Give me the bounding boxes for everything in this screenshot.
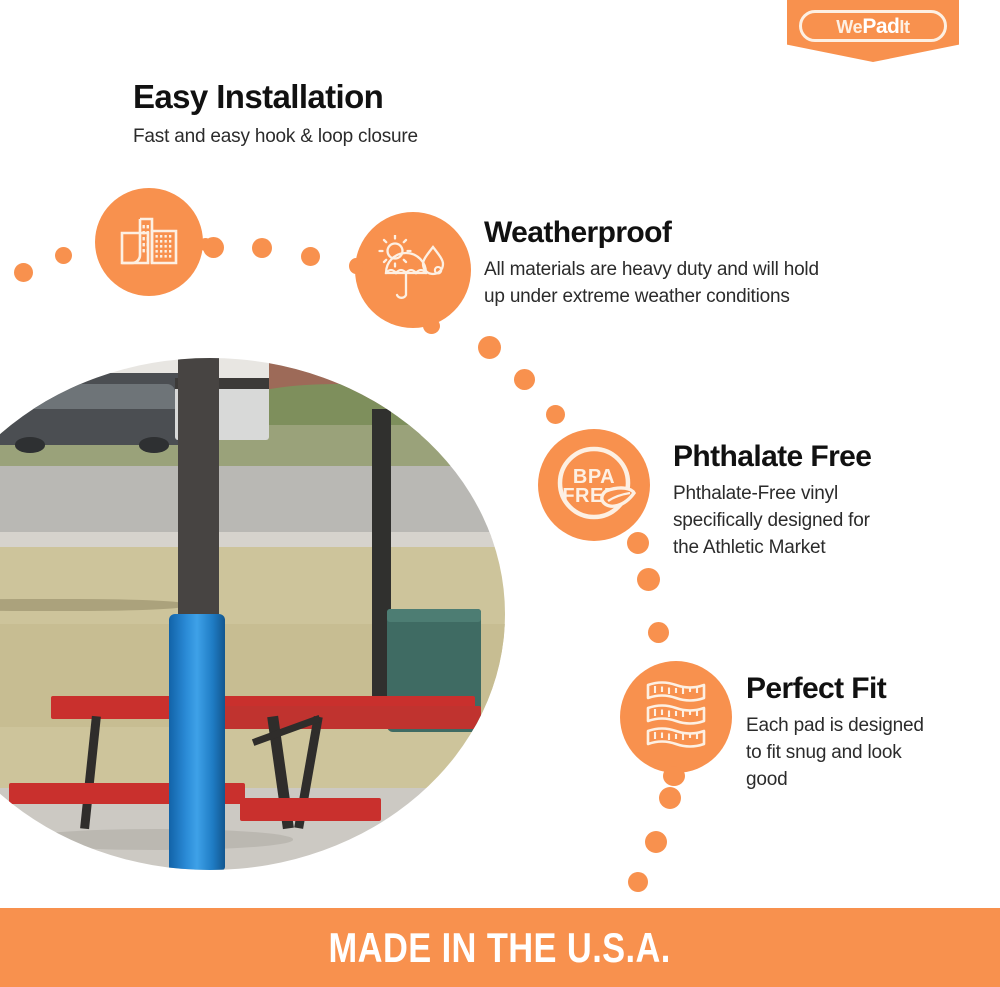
product-photo — [0, 358, 505, 870]
feature-block-perfect-fit: Perfect Fit Each pad is designedto fit s… — [746, 670, 996, 793]
trail-dot — [203, 237, 224, 258]
feature-block-weatherproof: Weatherproof All materials are heavy dut… — [484, 214, 914, 310]
badge-nub-bpa — [627, 532, 649, 554]
made-in-usa-text: MADE IN THE U.S.A. — [329, 924, 671, 972]
phthalate-desc-line-1: Phthalate-Free vinyl — [673, 483, 838, 504]
trail-dot — [301, 247, 320, 266]
measuring-tape-icon — [620, 661, 732, 773]
perfect-fit-desc-line-2: to fit snug and look — [746, 742, 902, 763]
trail-dot — [252, 238, 272, 258]
phthalate-desc-line-2: specifically designed for — [673, 510, 870, 531]
feature-description-perfect-fit: Each pad is designedto fit snug and look… — [746, 712, 996, 793]
feature-description-easy-installation: Fast and easy hook & loop closure — [133, 124, 553, 150]
trail-dot — [637, 568, 660, 591]
infographic-page: WePadIt Easy Installation Fast and easy … — [0, 0, 1000, 987]
logo-text-pad: Pad — [862, 16, 899, 37]
trail-dot — [55, 247, 72, 264]
building-hook-loop-icon — [95, 188, 203, 296]
logo-text-it: It — [899, 18, 909, 36]
trail-dot — [645, 831, 667, 853]
brand-logo-banner: WePadIt — [787, 0, 959, 62]
feature-title-easy-installation: Easy Installation — [133, 76, 553, 118]
trail-dot — [478, 336, 501, 359]
trail-dot — [514, 369, 535, 390]
feature-description-weatherproof: All materials are heavy duty and will ho… — [484, 256, 914, 310]
feature-block-easy-installation: Easy Installation Fast and easy hook & l… — [133, 76, 553, 150]
trail-dot — [546, 405, 565, 424]
perfect-fit-desc-line-3: good — [746, 769, 787, 790]
feature-description-phthalate-free: Phthalate-Free vinylspecifically designe… — [673, 480, 973, 561]
trail-dot — [14, 263, 33, 282]
product-photo-scene — [0, 358, 505, 870]
feature-title-phthalate-free: Phthalate Free — [673, 438, 973, 476]
feature-title-perfect-fit: Perfect Fit — [746, 670, 996, 708]
made-in-usa-banner: MADE IN THE U.S.A. — [0, 908, 1000, 987]
logo-wordmark: WePadIt — [836, 16, 910, 37]
bpa-free-leaf-icon: BPA FREE — [538, 429, 650, 541]
sun-umbrella-raindrop-icon — [355, 212, 471, 328]
weatherproof-desc-line-2: up under extreme weather conditions — [484, 286, 790, 307]
trail-dot — [648, 622, 669, 643]
phthalate-desc-line-3: the Athletic Market — [673, 537, 826, 558]
logo-outline-box: WePadIt — [799, 10, 947, 42]
feature-block-phthalate-free: Phthalate Free Phthalate-Free vinylspeci… — [673, 438, 973, 561]
badge-nub-fit — [663, 766, 685, 786]
logo-text-we: We — [836, 18, 862, 36]
perfect-fit-desc-line-1: Each pad is designed — [746, 715, 924, 736]
badge-nub-weather-bottom — [423, 318, 440, 334]
weatherproof-desc-line-1: All materials are heavy duty and will ho… — [484, 259, 819, 280]
trail-dot — [659, 787, 681, 809]
feature-title-weatherproof: Weatherproof — [484, 214, 914, 252]
trail-dot — [628, 872, 648, 892]
blue-pole-pad — [169, 614, 225, 870]
badge-nub-weather-left — [349, 258, 363, 274]
